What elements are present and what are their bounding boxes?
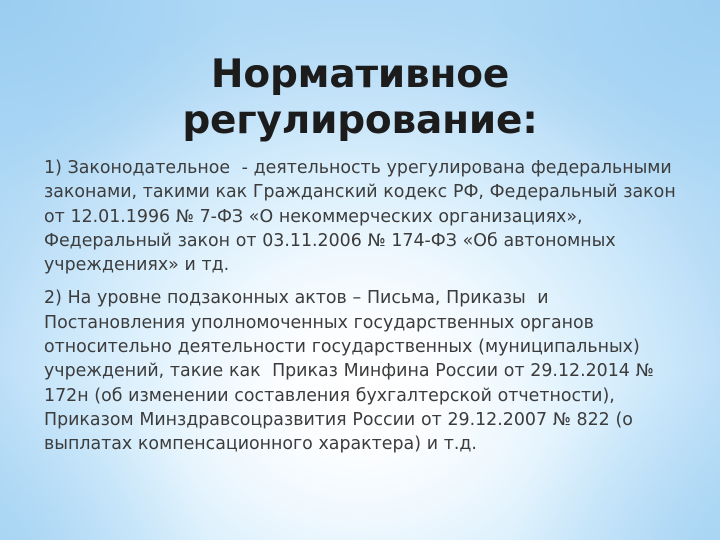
- page-title: Нормативное регулирование:: [0, 52, 720, 144]
- body-paragraph-1: 1) Законодательное - деятельность урегул…: [44, 156, 676, 277]
- body-paragraph-2: 2) На уровне подзаконных актов – Письма,…: [44, 286, 676, 456]
- slide-body: 1) Законодательное - деятельность урегул…: [44, 156, 676, 457]
- slide-content: Нормативное регулирование: 1) Законодате…: [0, 0, 720, 540]
- presentation-slide: Нормативное регулирование: 1) Законодате…: [0, 0, 720, 540]
